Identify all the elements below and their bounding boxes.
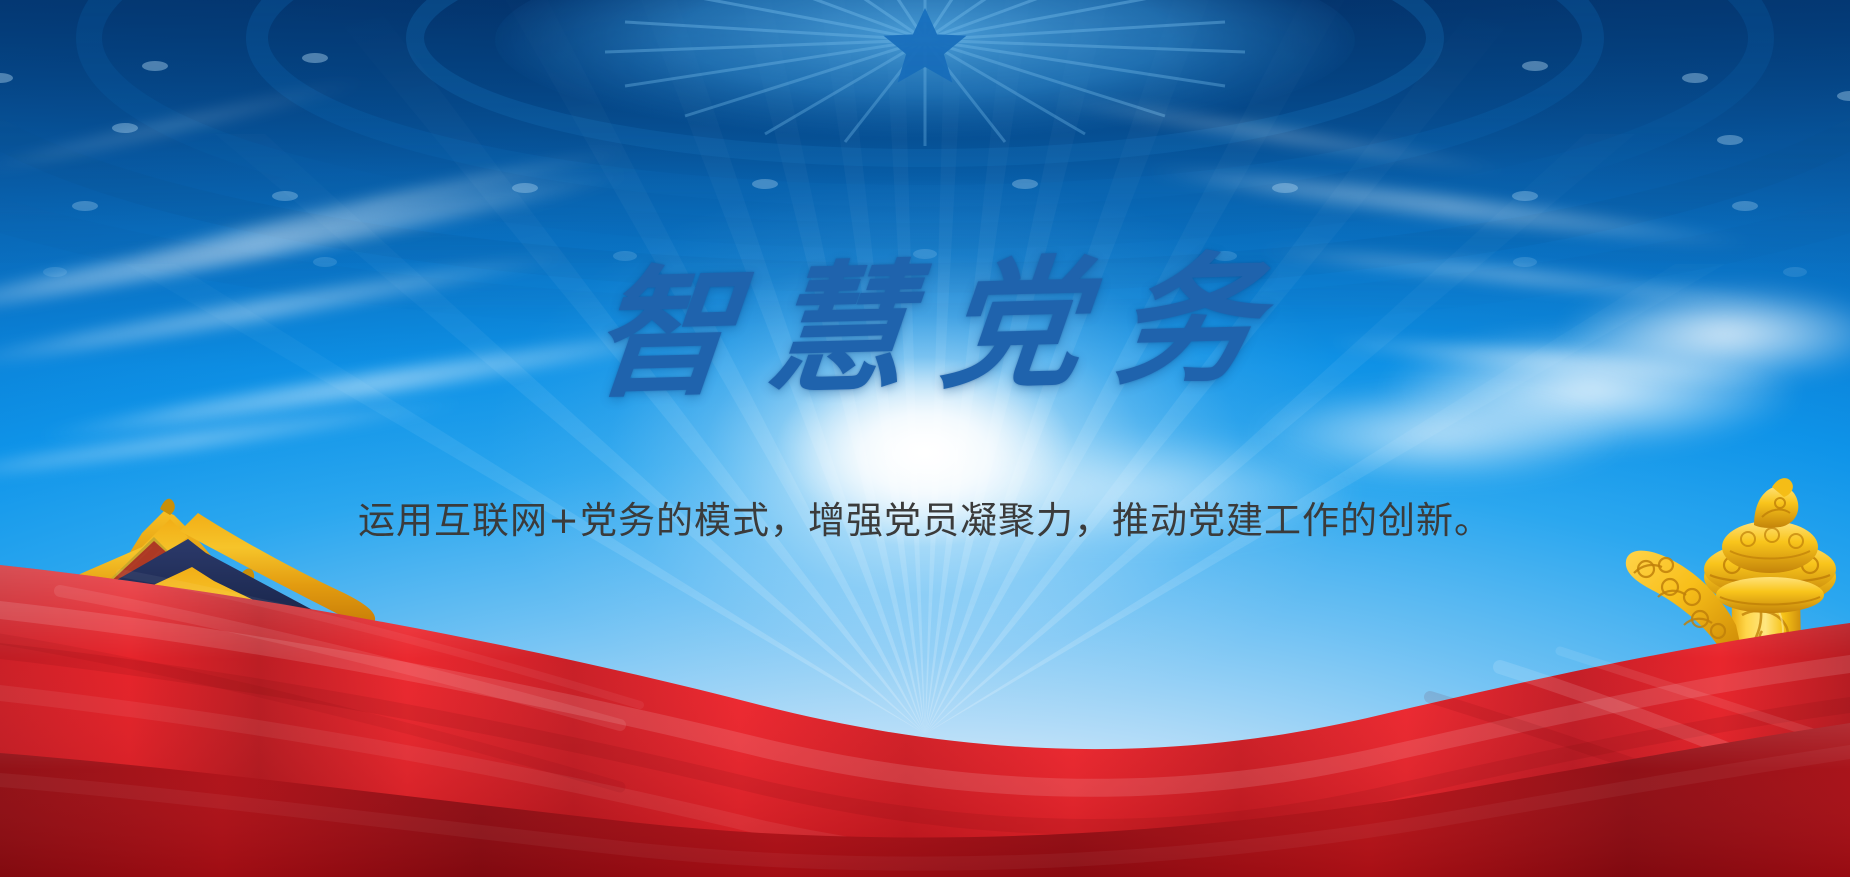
- great-hall-ceiling-rings: [0, 0, 1850, 330]
- huabiao-column-right: [1604, 473, 1844, 803]
- plaque-left: 中华人民共和国万岁: [211, 693, 329, 715]
- hero-subtitle: 运用互联网+党务的模式，增强党员凝聚力，推动党建工作的创新。: [358, 498, 1492, 544]
- banner-hero: 智慧党务 运用互联网+党务的模式，增强党员凝聚力，推动党建工作的创新。: [0, 0, 1850, 877]
- tiananmen-gate: [0, 489, 512, 789]
- portrait: [332, 707, 353, 737]
- plaque-right: 世界人民大团结万岁: [356, 711, 456, 731]
